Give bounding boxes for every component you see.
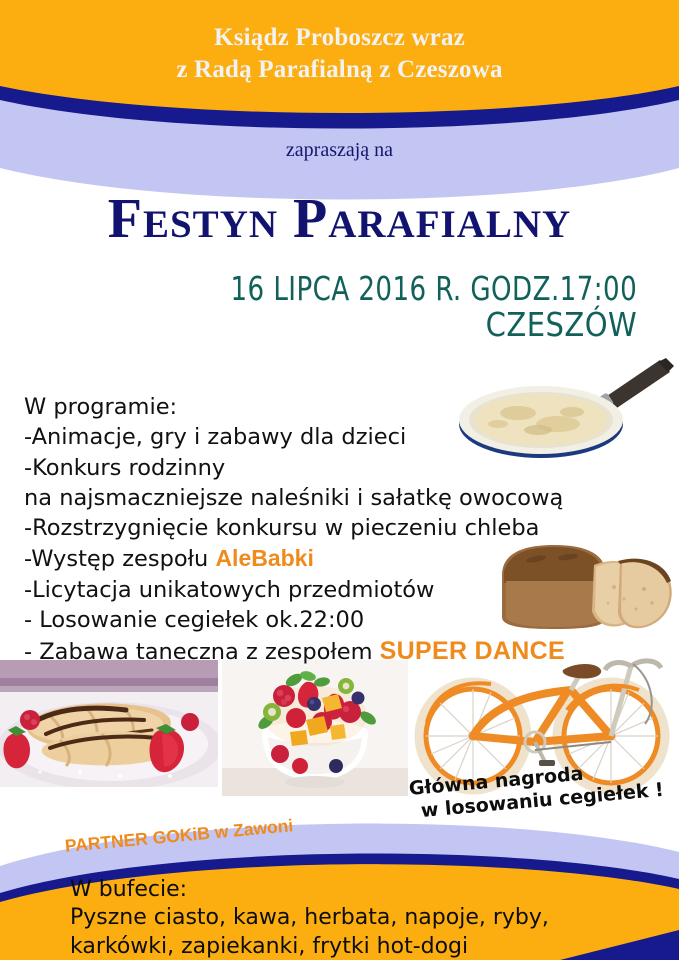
program-heading: W programie:: [24, 392, 664, 422]
program-item-4: -Rozstrzygnięcie konkursu w pieczeniu ch…: [24, 513, 664, 543]
buffet-heading: W bufecie:: [70, 876, 549, 904]
band-name: AleBabki: [215, 545, 313, 571]
event-datetime-block: 16 LIPCA 2016 R. GODZ.17:00 CZESZÓW: [175, 271, 637, 344]
crepes-image: [0, 660, 218, 787]
buffet-line-2: karkówki, zapiekanki, frytki hot-dogi: [70, 933, 549, 960]
program-item-1: -Animacje, gry i zabawy dla dzieci: [24, 422, 664, 452]
program-item-6: - Losowanie cegiełek ok.22:00: [24, 605, 664, 635]
dance-line-prefix: - Zabawa taneczna z zespołem: [24, 639, 380, 665]
program-item-dance: - Zabawa taneczna z zespołem SUPER DANCE: [24, 635, 664, 669]
header-line-1: Ksiądz Proboszcz wraz: [0, 22, 679, 54]
header-title: Ksiądz Proboszcz wraz z Radą Parafialną …: [0, 22, 679, 86]
header-line-2: z Radą Parafialną z Czeszowa: [0, 54, 679, 86]
buffet-block: W bufecie: Pyszne ciasto, kawa, herbata,…: [70, 876, 549, 960]
bottom-corner-wedge: [560, 930, 679, 960]
program-item-2: -Konkurs rodzinny: [24, 453, 664, 483]
program-list: W programie: -Animacje, gry i zabawy dla…: [24, 392, 664, 669]
program-item-3: na najsmaczniejsze naleśniki i sałatkę o…: [24, 483, 664, 513]
invitation-text: zapraszają na: [0, 139, 679, 162]
buffet-line-1: Pyszne ciasto, kawa, herbata, napoje, ry…: [70, 904, 549, 932]
event-place: CZESZÓW: [230, 307, 637, 344]
top-blue-stripe: [0, 86, 679, 135]
dance-band-name: SUPER DANCE: [380, 637, 565, 665]
program-item-band: -Występ zespołu AleBabki: [24, 543, 664, 574]
partner-caption: PARTNER GOKiB w Zawoni: [64, 815, 294, 857]
fruit-salad-image: [222, 660, 408, 796]
band-line-prefix: -Występ zespołu: [24, 546, 215, 572]
program-item-5: -Licytacja unikatowych przedmiotów: [24, 575, 664, 605]
event-date: 16 LIPCA 2016 R. GODZ.17:00: [230, 271, 637, 307]
page-title: Festyn Parafialny: [0, 191, 679, 247]
poster-canvas: Ksiądz Proboszcz wraz z Radą Parafialną …: [0, 0, 679, 960]
